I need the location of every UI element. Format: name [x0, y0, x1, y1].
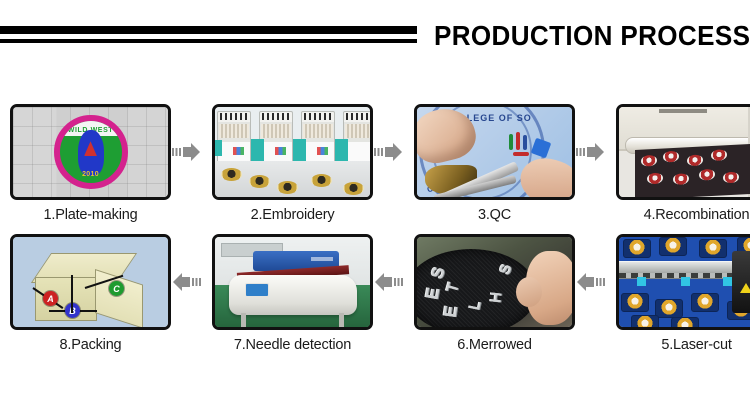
laser-cut-illustration	[619, 237, 750, 327]
step-2-caption: 2.Embroidery	[251, 207, 335, 223]
arrow-right-icon	[172, 143, 201, 161]
fabric-patch	[221, 168, 242, 181]
arrow-left-icon	[172, 273, 201, 291]
merrowed-illustration: S E T E L H S	[417, 237, 572, 327]
patch-sheet	[635, 144, 750, 200]
flow-arrow-7-to-8	[171, 234, 202, 330]
step-5-image-frame	[616, 234, 750, 330]
page-title: PRODUCTION PROCESS	[434, 20, 750, 52]
step-4-image-frame	[616, 104, 750, 200]
laser-patch	[623, 239, 651, 258]
production-process-flow: WILD WEST 2010 1.Plate-making	[0, 104, 750, 374]
needle-dots	[262, 113, 292, 120]
needle-dots	[220, 113, 250, 120]
step-1-caption: 1.Plate-making	[44, 207, 138, 223]
flow-arrow-5-to-6	[575, 234, 606, 330]
patch-letter: E	[422, 286, 445, 301]
sheet-patch	[647, 173, 663, 185]
step-6-image-frame: S E T E L H S	[414, 234, 575, 330]
patch-letter: S	[427, 265, 450, 282]
dimension-badge-a: A	[43, 291, 58, 306]
patch-figure-body	[78, 130, 104, 176]
sheet-patch	[641, 155, 657, 167]
flow-arrow-3-to-4	[575, 104, 606, 200]
step-3-qc[interactable]: COLLEGE OF SO CY MEDICAL 3	[414, 104, 575, 223]
step-3-caption: 3.QC	[478, 207, 511, 223]
needle-dots	[304, 113, 334, 120]
arrow-right-icon	[374, 143, 403, 161]
step-1-plate-making[interactable]: WILD WEST 2010 1.Plate-making	[10, 104, 171, 223]
flow-row-2: A B C 8.Packing	[0, 234, 750, 362]
page-header: PRODUCTION PROCESS	[0, 0, 750, 82]
patch-letter: S	[496, 262, 515, 277]
machine-teal-panel	[293, 139, 306, 161]
step-6-caption: 6.Merrowed	[457, 337, 532, 353]
sheet-patch	[711, 149, 727, 161]
hand-holding-patch	[526, 251, 575, 325]
patch-letter: L	[466, 299, 485, 312]
dimension-badge-c: C	[109, 281, 124, 296]
sheet-patch	[673, 173, 689, 185]
detector-leg	[339, 313, 344, 329]
step-4-recombination[interactable]: 4.Recombination	[616, 104, 750, 223]
packing-illustration: A B C	[13, 237, 168, 327]
sheet-patch	[699, 169, 715, 181]
laser-patch	[621, 293, 649, 312]
needle-detection-illustration	[215, 237, 370, 327]
step-2-image-frame	[212, 104, 373, 200]
step-5-laser-cut[interactable]: 5.Laser-cut	[616, 234, 750, 353]
laser-patch	[659, 237, 687, 256]
machine-logo	[275, 147, 286, 155]
step-7-caption: 7.Needle detection	[234, 337, 351, 353]
header-rule-thin	[0, 39, 417, 43]
dimension-line-c	[71, 275, 73, 313]
patch-disc: WILD WEST 2010	[54, 115, 128, 189]
flow-arrow-6-to-7	[373, 234, 404, 330]
plate-making-illustration: WILD WEST 2010	[13, 107, 168, 197]
warning-triangle-icon	[740, 283, 750, 293]
flow-arrow-1-to-2	[171, 104, 202, 200]
patch-letter: T	[444, 281, 464, 295]
flow-row-1: WILD WEST 2010 1.Plate-making	[0, 104, 750, 232]
step-6-merrowed[interactable]: S E T E L H S 6.Merrowed	[414, 234, 575, 353]
step-4-caption: 4.Recombination	[644, 207, 750, 223]
step-5-caption: 5.Laser-cut	[661, 337, 731, 353]
machine-logo	[233, 147, 244, 155]
patch-year-text: 2010	[82, 171, 99, 178]
detector-control-panel	[245, 283, 269, 297]
step-8-caption: 8.Packing	[60, 337, 122, 353]
step-8-packing[interactable]: A B C 8.Packing	[10, 234, 171, 353]
fabric-patch	[311, 174, 332, 187]
fabric-patch	[343, 182, 364, 195]
arrow-right-icon	[576, 143, 605, 161]
fabric-patch	[249, 175, 270, 188]
step-2-embroidery[interactable]: 2.Embroidery	[212, 104, 373, 223]
laser-patch	[671, 317, 699, 330]
arrow-left-icon	[374, 273, 403, 291]
fabric-patch	[277, 181, 298, 194]
laser-patch	[699, 239, 727, 258]
rail-marker	[681, 277, 690, 286]
patch-letter: H	[487, 291, 505, 304]
laser-patch	[655, 299, 683, 318]
step-1-image-frame: WILD WEST 2010	[10, 104, 171, 200]
laser-cutting-head	[732, 251, 750, 313]
step-3-image-frame: COLLEGE OF SO CY MEDICAL	[414, 104, 575, 200]
header-rules	[0, 26, 417, 43]
arrow-left-icon	[576, 273, 605, 291]
step-7-needle-detection[interactable]: 7.Needle detection	[212, 234, 373, 353]
detector-leg	[241, 313, 246, 329]
needle-dots	[346, 113, 373, 120]
machine-logo	[317, 147, 328, 155]
sheet-patch	[723, 172, 739, 184]
machine-teal-panel	[251, 139, 264, 161]
recombination-illustration	[619, 107, 750, 197]
sheet-patch	[687, 154, 703, 166]
rail-marker	[637, 277, 646, 286]
flow-arrow-2-to-3	[373, 104, 404, 200]
patch-letter: E	[440, 304, 462, 319]
sheet-patch	[663, 151, 679, 163]
rail-marker	[723, 277, 732, 286]
laser-patch	[631, 315, 659, 330]
laser-patch	[691, 293, 719, 312]
embroidery-illustration	[215, 107, 370, 197]
step-8-image-frame: A B C	[10, 234, 171, 330]
header-rule-thick	[0, 26, 417, 34]
machine-teal-panel	[335, 139, 348, 161]
step-7-image-frame	[212, 234, 373, 330]
press-top-bar	[659, 109, 707, 113]
embroidery-fabric	[215, 161, 370, 197]
qc-illustration: COLLEGE OF SO CY MEDICAL	[417, 107, 572, 197]
